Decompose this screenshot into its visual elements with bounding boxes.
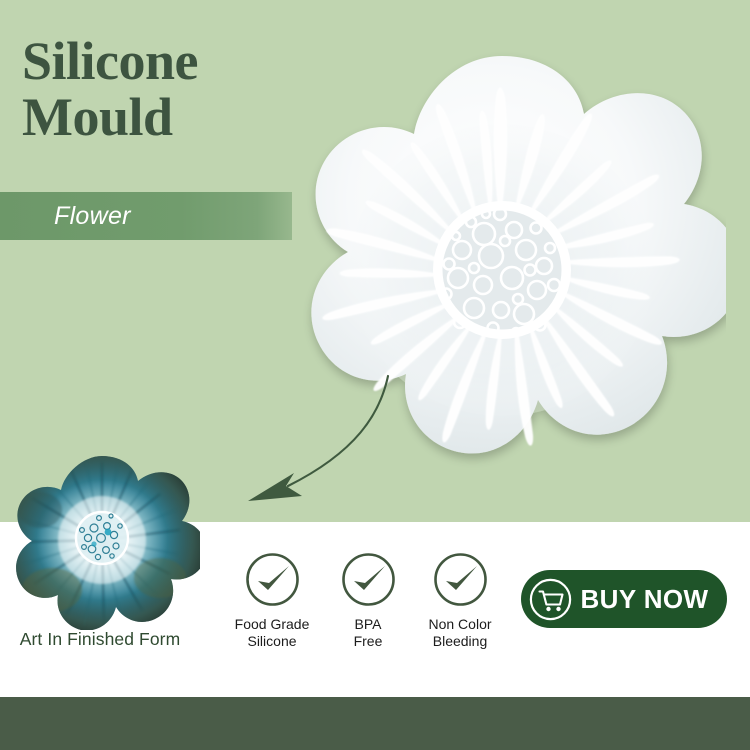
subtitle-text: Flower [54, 202, 131, 231]
check-circle-icon [433, 552, 488, 607]
buy-now-button[interactable]: BUY NOW [521, 570, 727, 628]
feature-list: Food Grade Silicone BPA Free Non Color B… [226, 552, 511, 667]
feature-item-bpa-free: BPA Free [322, 552, 414, 650]
feature-label: BPA Free [322, 616, 414, 650]
finished-art-caption: Art In Finished Form [0, 629, 200, 650]
check-circle-icon [245, 552, 300, 607]
subtitle-banner [0, 192, 292, 240]
shopping-cart-icon [529, 578, 572, 621]
silicone-flower-mould-icon [278, 42, 726, 490]
product-ad-canvas: Silicone Mould Flower [0, 0, 750, 750]
feature-label: Food Grade Silicone [226, 616, 318, 650]
teal-resin-flower-icon [4, 450, 200, 630]
footer-bar [0, 697, 750, 750]
feature-item-non-color-bleeding: Non Color Bleeding [414, 552, 506, 650]
check-circle-icon [341, 552, 396, 607]
feature-item-food-grade-silicone: Food Grade Silicone [226, 552, 318, 650]
buy-now-label: BUY NOW [572, 584, 727, 615]
feature-label: Non Color Bleeding [414, 616, 506, 650]
